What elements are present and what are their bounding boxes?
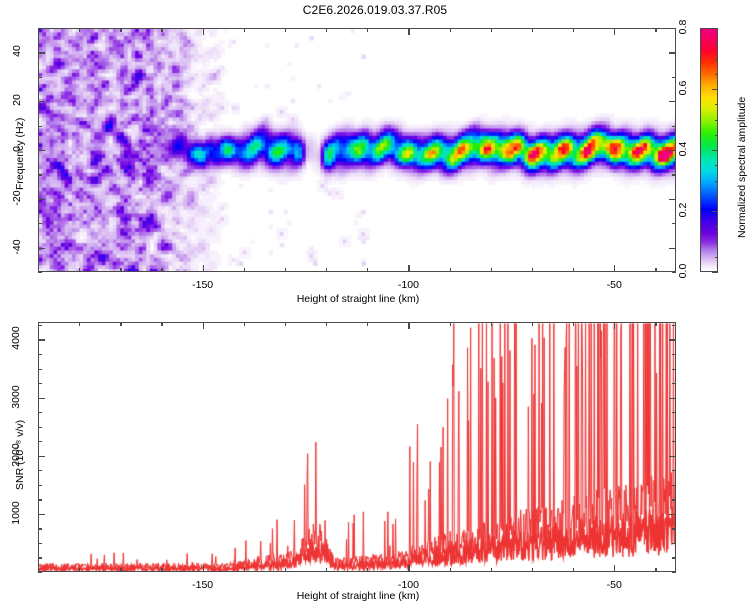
snr-xtick-top <box>532 322 533 326</box>
snr-xtick <box>573 568 574 572</box>
colorbar-tick <box>712 211 718 212</box>
spectrogram-xticklabel: -100 <box>383 279 433 291</box>
snr-xtick <box>408 565 409 572</box>
spectrogram-xtick-top <box>614 28 615 35</box>
spectrogram-ytick <box>38 101 45 102</box>
snr-ytick <box>38 383 42 384</box>
snr-ytick-right <box>672 470 676 471</box>
snr-xtick-top <box>367 322 368 326</box>
colorbar-tick <box>715 104 718 105</box>
spectrogram-ytick-right <box>672 126 676 127</box>
colorbar-label: Normalized spectral amplitude <box>736 97 748 238</box>
spectrogram-xtick-top <box>244 28 245 32</box>
snr-ytick <box>38 514 45 515</box>
spectrogram-xticklabel: -150 <box>178 279 228 291</box>
snr-ytick <box>38 499 42 500</box>
colorbar-ticklabel: 0.6 <box>677 73 689 103</box>
spectrogram-xtick <box>408 265 409 272</box>
colorbar-ticklabel: 0.2 <box>677 195 689 225</box>
spectrogram-xtick <box>655 268 656 272</box>
snr-ytick <box>38 485 42 486</box>
snr-ytick <box>38 369 42 370</box>
spectrogram-ytick <box>38 199 45 200</box>
spectrogram-xtick-top <box>655 28 656 32</box>
snr-ytick-right <box>672 528 676 529</box>
colorbar-tick <box>715 226 718 227</box>
snr-ytick-right <box>669 456 676 457</box>
spectrogram-ytick <box>38 248 45 249</box>
spectrogram-xaxis-label: Height of straight line (km) <box>208 293 508 305</box>
spectrogram-ytick-right <box>672 77 676 78</box>
snr-xtick <box>532 568 533 572</box>
snr-xtick-top <box>285 322 286 326</box>
snr-xtick-top <box>573 322 574 326</box>
snr-ytick-right <box>672 557 676 558</box>
snr-ytick-right <box>672 441 676 442</box>
snr-xaxis-label: Height of straight line (km) <box>208 590 508 602</box>
spectrogram-ytick <box>38 272 42 273</box>
colorbar-tick <box>715 242 718 243</box>
colorbar-tick <box>715 59 718 60</box>
snr-yticklabel: 4000 <box>10 318 22 358</box>
spectrogram-yticklabel: -40 <box>11 232 23 262</box>
spectrogram-yaxis-label: Frequency (Hz) <box>14 118 26 190</box>
spectrogram-xtick <box>120 268 121 272</box>
snr-xticklabel: -50 <box>589 579 639 591</box>
spectrogram-xtick-top <box>161 28 162 32</box>
snr-ytick <box>38 354 42 355</box>
colorbar-tick <box>715 120 718 121</box>
snr-ytick-right <box>672 572 676 573</box>
spectrogram-ytick-right <box>672 174 676 175</box>
colorbar-tick <box>715 43 718 44</box>
snr-ytick-right <box>672 325 676 326</box>
snr-xtick-top <box>655 322 656 326</box>
spectrogram-xtick <box>367 268 368 272</box>
snr-ytick <box>38 572 42 573</box>
spectrogram-ytick-right <box>672 272 676 273</box>
spectrogram-xtick-top <box>491 28 492 32</box>
spectrogram-xtick-top <box>532 28 533 32</box>
spectrogram-xtick <box>532 268 533 272</box>
spectrogram-xtick <box>614 265 615 272</box>
spectrogram-xtick-top <box>120 28 121 32</box>
snr-canvas <box>39 323 676 572</box>
colorbar-ticklabel: 0.4 <box>677 134 689 164</box>
spectrogram-xtick-top <box>285 28 286 32</box>
snr-ytick <box>38 412 42 413</box>
snr-xtick-top <box>491 322 492 326</box>
spectrogram-ytick <box>38 126 42 127</box>
spectrogram-ytick-right <box>669 52 676 53</box>
snr-xtick-top <box>161 322 162 326</box>
snr-ytick <box>38 339 45 340</box>
snr-ytick-right <box>672 543 676 544</box>
snr-xtick-top <box>326 322 327 326</box>
snr-xtick-top <box>450 322 451 326</box>
snr-ytick <box>38 470 42 471</box>
spectrogram-xtick <box>79 268 80 272</box>
spectrogram-xtick-top <box>79 28 80 32</box>
snr-xtick <box>120 568 121 572</box>
snr-ytick <box>38 427 42 428</box>
colorbar-tick <box>712 272 718 273</box>
spectrogram-xtick-top <box>326 28 327 32</box>
figure-title: C2E6.2026.019.03.37.R05 <box>0 3 750 17</box>
snr-ytick-right <box>669 398 676 399</box>
snr-xtick <box>326 568 327 572</box>
snr-ytick-right <box>672 354 676 355</box>
spectrogram-xtick <box>491 268 492 272</box>
snr-ytick-right <box>669 514 676 515</box>
snr-xtick <box>614 565 615 572</box>
snr-xtick <box>79 568 80 572</box>
spectrogram-xtick <box>203 265 204 272</box>
spectrogram-xtick-top <box>203 28 204 35</box>
colorbar-tick <box>715 181 718 182</box>
spectrogram-xticklabel: -50 <box>589 279 639 291</box>
spectrogram-xtick <box>573 268 574 272</box>
spectrogram-ytick-right <box>669 199 676 200</box>
spectrogram-canvas <box>39 29 676 272</box>
spectrogram-ytick <box>38 223 42 224</box>
snr-ytick <box>38 398 45 399</box>
snr-xtick <box>285 568 286 572</box>
snr-xtick <box>203 565 204 572</box>
snr-ytick <box>38 441 42 442</box>
figure-root: C2E6.2026.019.03.37.R05 -150-100-5040200… <box>0 0 750 600</box>
snr-xtick <box>450 568 451 572</box>
colorbar-tick <box>715 135 718 136</box>
snr-xtick-top <box>408 322 409 329</box>
snr-ytick <box>38 456 45 457</box>
colorbar-tick <box>712 28 718 29</box>
colorbar-tick <box>715 74 718 75</box>
snr-ytick <box>38 557 42 558</box>
snr-ytick <box>38 325 42 326</box>
spectrogram-xtick-top <box>450 28 451 32</box>
snr-ytick <box>38 528 42 529</box>
spectrogram-xtick <box>450 268 451 272</box>
snr-yaxis-label: SNR (10⁻⁸ v/v) <box>14 420 26 490</box>
colorbar-tick <box>712 150 718 151</box>
spectrogram-ytick-right <box>672 223 676 224</box>
colorbar-tick <box>715 165 718 166</box>
spectrogram-ytick <box>38 77 42 78</box>
spectrogram-xtick <box>161 268 162 272</box>
snr-yticklabel: 3000 <box>10 377 22 417</box>
colorbar-tick <box>715 257 718 258</box>
snr-ytick <box>38 543 42 544</box>
spectrogram-ytick <box>38 174 42 175</box>
snr-ytick-right <box>669 339 676 340</box>
spectrogram-plot-area <box>38 28 676 272</box>
spectrogram-ytick-right <box>672 28 676 29</box>
spectrogram-xtick <box>326 268 327 272</box>
spectrogram-xtick <box>285 268 286 272</box>
spectrogram-xtick-top <box>408 28 409 35</box>
spectrogram-yticklabel: 40 <box>11 36 23 66</box>
colorbar-ticklabel: 0.8 <box>677 12 689 42</box>
snr-ytick-right <box>672 369 676 370</box>
snr-ytick-right <box>672 485 676 486</box>
snr-xtick <box>244 568 245 572</box>
spectrogram-ytick <box>38 150 45 151</box>
snr-plot-area <box>38 322 676 572</box>
snr-ytick-right <box>672 412 676 413</box>
colorbar-ticklabel: 0.0 <box>677 256 689 286</box>
spectrogram-ytick-right <box>669 101 676 102</box>
spectrogram-xtick-top <box>367 28 368 32</box>
spectrogram-ytick <box>38 52 45 53</box>
snr-yticklabel: 1000 <box>10 493 22 533</box>
colorbar-tick <box>715 196 718 197</box>
snr-ytick-right <box>672 499 676 500</box>
colorbar-tick <box>712 89 718 90</box>
snr-xtick-top <box>614 322 615 329</box>
snr-xtick-top <box>203 322 204 329</box>
spectrogram-ytick-right <box>669 248 676 249</box>
spectrogram-ytick <box>38 28 42 29</box>
snr-xtick <box>655 568 656 572</box>
snr-xtick <box>161 568 162 572</box>
snr-ytick-right <box>672 427 676 428</box>
spectrogram-ytick-right <box>669 150 676 151</box>
snr-xtick-top <box>244 322 245 326</box>
snr-xtick-top <box>79 322 80 326</box>
snr-xtick <box>491 568 492 572</box>
snr-xtick-top <box>120 322 121 326</box>
snr-ytick-right <box>672 383 676 384</box>
spectrogram-xtick-top <box>573 28 574 32</box>
spectrogram-xtick <box>244 268 245 272</box>
spectrogram-yticklabel: 20 <box>11 85 23 115</box>
snr-xtick <box>367 568 368 572</box>
